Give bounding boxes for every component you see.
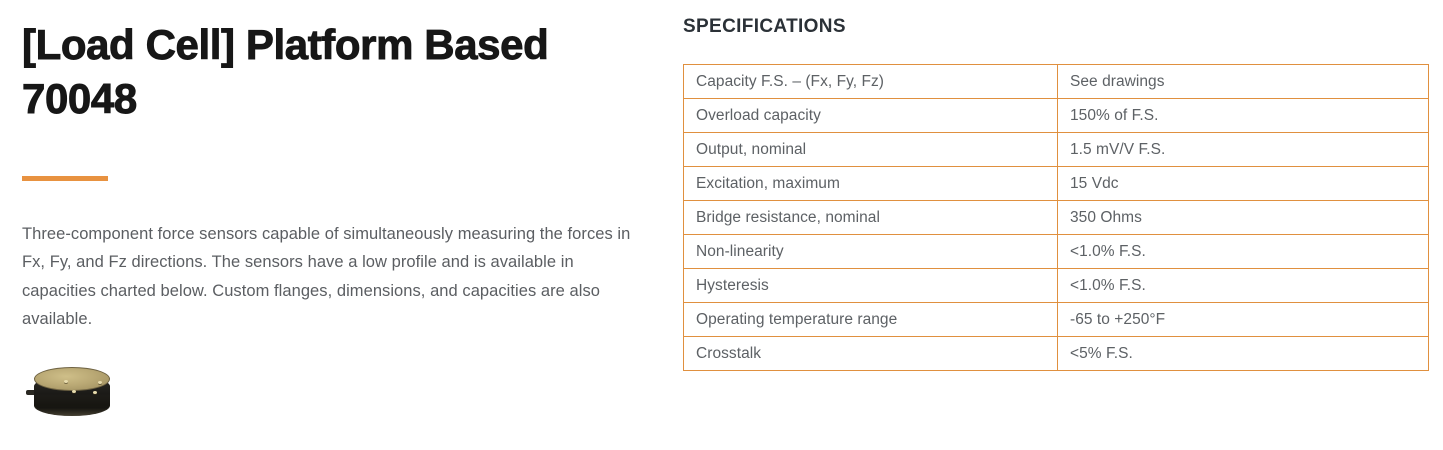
spec-label: Output, nominal xyxy=(684,133,1058,167)
table-row: Overload capacity 150% of F.S. xyxy=(684,99,1429,133)
table-row: Capacity F.S. – (Fx, Fy, Fz) See drawing… xyxy=(684,65,1429,99)
spec-label: Operating temperature range xyxy=(684,303,1058,337)
specifications-table-container: Capacity F.S. – (Fx, Fy, Fz) See drawing… xyxy=(683,64,1428,371)
table-row: Operating temperature range -65 to +250°… xyxy=(684,303,1429,337)
spec-label: Crosstalk xyxy=(684,337,1058,371)
product-description: Three-component force sensors capable of… xyxy=(22,220,634,334)
table-row: Hysteresis <1.0% F.S. xyxy=(684,269,1429,303)
spec-label: Excitation, maximum xyxy=(684,167,1058,201)
bolt-hole-icon xyxy=(64,380,68,383)
bolt-hole-icon xyxy=(72,390,76,393)
specifications-table-body: Capacity F.S. – (Fx, Fy, Fz) See drawing… xyxy=(684,65,1429,371)
product-image xyxy=(22,360,126,430)
table-row: Excitation, maximum 15 Vdc xyxy=(684,167,1429,201)
spec-value: <1.0% F.S. xyxy=(1058,235,1429,269)
table-row: Non-linearity <1.0% F.S. xyxy=(684,235,1429,269)
spec-value: See drawings xyxy=(1058,65,1429,99)
load-cell-photo-icon xyxy=(22,360,126,430)
product-intro-column: [Load Cell] Platform Based 70048 Three-c… xyxy=(0,0,660,450)
table-row: Crosstalk <5% F.S. xyxy=(684,337,1429,371)
specifications-column: SPECIFICATIONS Capacity F.S. – (Fx, Fy, … xyxy=(683,0,1428,450)
spec-value: <5% F.S. xyxy=(1058,337,1429,371)
spec-label: Capacity F.S. – (Fx, Fy, Fz) xyxy=(684,65,1058,99)
spec-label: Hysteresis xyxy=(684,269,1058,303)
specifications-table: Capacity F.S. – (Fx, Fy, Fz) See drawing… xyxy=(683,64,1429,371)
bolt-hole-icon xyxy=(98,381,102,384)
spec-value: 150% of F.S. xyxy=(1058,99,1429,133)
accent-divider xyxy=(22,176,108,181)
page-title: [Load Cell] Platform Based 70048 xyxy=(22,18,582,126)
spec-value: 15 Vdc xyxy=(1058,167,1429,201)
spec-label: Overload capacity xyxy=(684,99,1058,133)
spec-value: -65 to +250°F xyxy=(1058,303,1429,337)
bolt-hole-icon xyxy=(93,391,97,394)
table-row: Bridge resistance, nominal 350 Ohms xyxy=(684,201,1429,235)
spec-label: Non-linearity xyxy=(684,235,1058,269)
load-cell-top-plate xyxy=(34,367,110,391)
spec-value: 350 Ohms xyxy=(1058,201,1429,235)
spec-value: <1.0% F.S. xyxy=(1058,269,1429,303)
spec-label: Bridge resistance, nominal xyxy=(684,201,1058,235)
table-row: Output, nominal 1.5 mV/V F.S. xyxy=(684,133,1429,167)
spec-value: 1.5 mV/V F.S. xyxy=(1058,133,1429,167)
specifications-heading: SPECIFICATIONS xyxy=(683,16,846,38)
